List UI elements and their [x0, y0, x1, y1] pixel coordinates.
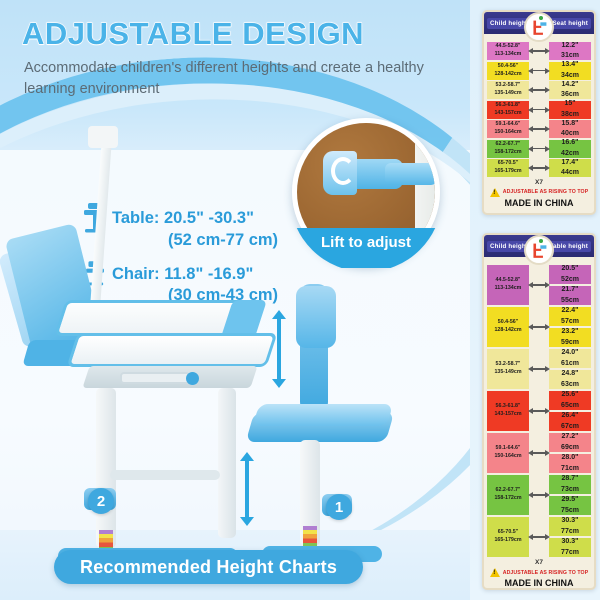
table-height-cm: 65cm	[561, 401, 579, 411]
desk-drawer	[120, 372, 190, 384]
table-height-inches: 23.2"	[562, 327, 579, 337]
chart-2-rows: 44.5-52.8"113-134cm20.5"52cm21.7"55cm50.…	[484, 257, 594, 590]
table-height-cm: 61cm	[561, 359, 579, 369]
warning-triangle-icon	[490, 188, 500, 197]
child-height-inches: 59.1-64.6"	[496, 445, 521, 453]
table-row: 59.1-64.6"150-164cm15.8"40cm	[484, 120, 594, 138]
bottom-banner-label: Recommended Height Charts	[80, 557, 337, 578]
child-height-inches: 65-70.5"	[498, 160, 518, 168]
cell-seat-height: 17.4"44cm	[549, 159, 591, 177]
cell-seat-height: 13.4"34cm	[549, 62, 591, 80]
chart-1-rows: 44.5-52.8"113-134cm12.2"31cm50.4-56"128-…	[484, 34, 594, 211]
cell-seat-height: 16.6"42cm	[549, 140, 591, 158]
cell-child-height: 44.5-52.8"113-134cm	[487, 42, 529, 60]
row-link-arrow-icon	[529, 81, 549, 99]
cell-table-height-group: 25.6"65cm26.4"67cm	[549, 391, 591, 431]
cell-table-height-lower: 24.8"63cm	[549, 370, 591, 389]
cell-seat-height: 15.8"40cm	[549, 120, 591, 138]
infographic-page: ADJUSTABLE DESIGN Accommodate children's…	[0, 0, 600, 600]
main-panel: ADJUSTABLE DESIGN Accommodate children's…	[0, 0, 470, 600]
table-height-cm: 67cm	[561, 422, 579, 432]
cell-child-height: 56.3-61.8"143-157cm	[487, 101, 529, 119]
row-link-arrow-icon	[529, 349, 549, 389]
child-height-cm: 150-164cm	[494, 129, 521, 137]
cell-child-height: 65-70.5"165-179cm	[487, 517, 529, 557]
cell-table-height-lower: 23.2"59cm	[549, 328, 591, 347]
cell-table-height-upper: 25.6"65cm	[549, 391, 591, 410]
bubble-knob-neck	[385, 163, 437, 185]
chart-2-header: Child height Table height	[484, 235, 594, 257]
chart-1-col-seat-height: Seat height	[549, 18, 591, 29]
child-height-inches: 56.3-61.8"	[496, 102, 521, 110]
spec-table-text: Table: 20.5" -30.3" (52 cm-77 cm)	[112, 196, 278, 252]
cell-table-height-upper: 24.0"61cm	[549, 349, 591, 368]
chart-2-warning: ADJUSTABLE AS RISING TO TOP	[484, 568, 594, 577]
chart-1-multiplier: X7	[484, 179, 594, 186]
cell-child-height: 59.1-64.6"150-164cm	[487, 433, 529, 473]
chart-1-header: Child height Seat height	[484, 12, 594, 34]
lift-adjust-label-wrap: Lift to adjust	[292, 228, 440, 268]
chart-2-multiplier: X7	[484, 559, 594, 566]
child-height-cm: 113-134cm	[495, 285, 522, 293]
table-row: 50.4-56"128-142cm22.4"57cm23.2"59cm	[484, 307, 594, 347]
row-link-arrow-icon	[529, 307, 549, 347]
seat-height-inches: 14.2"	[562, 80, 579, 90]
child-height-cm: 143-157cm	[494, 411, 521, 419]
table-row: 50.4-56"128-142cm13.4"34cm	[484, 62, 594, 80]
table-height-cm: 71cm	[561, 464, 579, 474]
child-height-inches: 44.5-52.8"	[496, 43, 521, 51]
cell-child-height: 62.2-67.7"158-172cm	[487, 140, 529, 158]
child-height-cm: 165-179cm	[494, 168, 521, 176]
lift-adjust-label: Lift to adjust	[292, 234, 440, 251]
child-height-inches: 44.5-52.8"	[496, 277, 521, 285]
child-height-inches: 62.2-67.7"	[496, 141, 521, 149]
table-row: 65-70.5"165-179cm17.4"44cm	[484, 159, 594, 177]
cell-table-height-upper: 27.2"69cm	[549, 433, 591, 452]
table-height-inches: 27.2"	[562, 432, 579, 442]
table-height-cm: 55cm	[561, 296, 579, 306]
row-link-arrow-icon	[529, 517, 549, 557]
table-height-inches: 28.0"	[562, 453, 579, 463]
table-height-cm: 69cm	[561, 443, 579, 453]
cell-table-height-lower: 26.4"67cm	[549, 412, 591, 431]
row-link-arrow-icon	[529, 101, 549, 119]
table-height-inches: 24.0"	[562, 348, 579, 358]
spec-row-table: Table: 20.5" -30.3" (52 cm-77 cm)	[78, 196, 278, 252]
child-height-inches: 50.4-56"	[498, 63, 518, 71]
cell-table-height-lower: 29.5"75cm	[549, 496, 591, 515]
table-height-cm: 77cm	[561, 527, 579, 537]
table-row: 44.5-52.8"113-134cm20.5"52cm21.7"55cm	[484, 265, 594, 305]
table-height-inches: 21.7"	[562, 285, 579, 295]
table-height-inches: 29.5"	[562, 495, 579, 505]
child-height-cm: 150-164cm	[494, 453, 521, 461]
seat-height-inches: 13.4"	[562, 60, 579, 70]
row-link-arrow-icon	[529, 140, 549, 158]
cell-table-height-upper: 28.7"73cm	[549, 475, 591, 494]
cell-child-height: 56.3-61.8"143-157cm	[487, 391, 529, 431]
table-height-cm: 77cm	[561, 548, 579, 558]
spec-block: Table: 20.5" -30.3" (52 cm-77 cm) Chair:…	[78, 196, 278, 313]
chair-height-arrow-icon	[240, 452, 254, 526]
chart-1-origin: MADE IN CHINA	[484, 198, 594, 211]
seat-height-inches: 16.6"	[562, 138, 579, 148]
table-row: 56.3-61.8"143-157cm25.6"65cm26.4"67cm	[484, 391, 594, 431]
child-height-cm: 128-142cm	[494, 71, 521, 79]
badge-desk-number: 2	[88, 488, 114, 514]
row-link-arrow-icon	[529, 120, 549, 138]
cell-child-height: 53.2-58.7"135-149cm	[487, 81, 529, 99]
child-height-inches: 56.3-61.8"	[496, 403, 521, 411]
table-row: 62.2-67.7"158-172cm16.6"42cm	[484, 140, 594, 158]
cell-child-height: 50.4-56"128-142cm	[487, 307, 529, 347]
cell-table-height-group: 24.0"61cm24.8"63cm	[549, 349, 591, 389]
child-height-cm: 143-157cm	[494, 110, 521, 118]
cell-table-height-upper: 22.4"57cm	[549, 307, 591, 326]
lamp-head	[88, 126, 118, 148]
child-height-cm: 158-172cm	[494, 149, 521, 157]
child-height-cm: 113-134cm	[495, 51, 522, 59]
table-height-chart-card: Child height Table height 44.5-52.8"113-…	[482, 233, 596, 590]
cell-seat-height: 15"38cm	[549, 101, 591, 119]
chart-1-warning-text: ADJUSTABLE AS RISING TO TOP	[503, 189, 589, 195]
bottom-banner: Recommended Height Charts	[54, 550, 363, 584]
spec-table-inches: Table: 20.5" -30.3"	[112, 209, 254, 227]
seat-height-chart-card: Child height Seat height 44.5-52.8"113-1…	[482, 10, 596, 215]
cell-table-height-lower: 30.3"77cm	[549, 538, 591, 557]
child-height-inches: 53.2-58.7"	[496, 82, 521, 90]
table-row: 62.2-67.7"158-172cm28.7"73cm29.5"75cm	[484, 475, 594, 515]
row-link-arrow-icon	[529, 475, 549, 515]
height-chart-column: Child height Seat height 44.5-52.8"113-1…	[470, 0, 600, 600]
table-row: 59.1-64.6"150-164cm27.2"69cm28.0"71cm	[484, 433, 594, 473]
child-height-inches: 50.4-56"	[498, 319, 518, 327]
chair-seat-cushion	[253, 404, 393, 426]
row-link-arrow-icon	[529, 265, 549, 305]
row-link-arrow-icon	[529, 391, 549, 431]
table-height-inches: 30.3"	[562, 516, 579, 526]
cell-table-height-group: 27.2"69cm28.0"71cm	[549, 433, 591, 473]
child-height-cm: 135-149cm	[494, 90, 521, 98]
desk-crossbar	[110, 470, 220, 480]
spec-chair-inches: Chair: 11.8" -16.9"	[112, 265, 253, 283]
cell-table-height-group: 22.4"57cm23.2"59cm	[549, 307, 591, 347]
badge-chair-number: 1	[326, 494, 352, 520]
table-row: 44.5-52.8"113-134cm12.2"31cm	[484, 42, 594, 60]
table-height-inches: 24.8"	[562, 369, 579, 379]
table-height-cm: 73cm	[561, 485, 579, 495]
seat-height-inches: 15.8"	[562, 119, 579, 129]
bubble-knob-hook	[331, 157, 355, 185]
child-height-cm: 135-149cm	[494, 369, 521, 377]
table-height-inches: 20.5"	[562, 264, 579, 274]
table-row: 53.2-58.7"135-149cm14.2"36cm	[484, 81, 594, 99]
seat-height-inches: 15"	[564, 99, 575, 109]
cell-child-height: 50.4-56"128-142cm	[487, 62, 529, 80]
chart-2-warning-text: ADJUSTABLE AS RISING TO TOP	[503, 570, 589, 576]
cell-child-height: 44.5-52.8"113-134cm	[487, 265, 529, 305]
cell-child-height: 59.1-64.6"150-164cm	[487, 120, 529, 138]
desk-leg-left	[96, 388, 116, 548]
child-height-cm: 158-172cm	[494, 495, 521, 503]
spec-table-cm: (52 cm-77 cm)	[112, 230, 278, 252]
cell-seat-height: 12.2"31cm	[549, 42, 591, 60]
cell-seat-height: 14.2"36cm	[549, 81, 591, 99]
cell-child-height: 62.2-67.7"158-172cm	[487, 475, 529, 515]
table-height-inches: 25.6"	[562, 390, 579, 400]
cell-table-height-group: 20.5"52cm21.7"55cm	[549, 265, 591, 305]
table-height-inches: 26.4"	[562, 411, 579, 421]
chart-2-origin: MADE IN CHINA	[484, 578, 594, 590]
seat-height-cm: 44cm	[561, 168, 579, 178]
page-subtitle: Accommodate children's different heights…	[24, 58, 424, 100]
cell-table-height-lower: 28.0"71cm	[549, 454, 591, 473]
drawer-knob-icon	[186, 372, 199, 385]
table-height-inches: 28.7"	[562, 474, 579, 484]
desk-height-arrow-icon	[272, 310, 286, 388]
seat-height-inches: 12.2"	[562, 41, 579, 51]
desk-leg-right	[218, 388, 236, 538]
table-height-cm: 63cm	[561, 380, 579, 390]
row-link-arrow-icon	[529, 42, 549, 60]
desk-top-front	[66, 333, 277, 367]
table-height-inches: 22.4"	[562, 306, 579, 316]
table-height-cm: 52cm	[561, 275, 579, 285]
cell-child-height: 53.2-58.7"135-149cm	[487, 349, 529, 389]
cell-table-height-upper: 30.3"77cm	[549, 517, 591, 536]
table-row: 56.3-61.8"143-157cm15"38cm	[484, 101, 594, 119]
row-link-arrow-icon	[529, 433, 549, 473]
table-height-cm: 57cm	[561, 317, 579, 327]
cell-table-height-upper: 20.5"52cm	[549, 265, 591, 284]
table-height-cm: 59cm	[561, 338, 579, 348]
table-height-inches: 30.3"	[562, 537, 579, 547]
seat-height-inches: 17.4"	[562, 158, 579, 168]
chart-1-warning: ADJUSTABLE AS RISING TO TOP	[484, 188, 594, 197]
child-height-inches: 65-70.5"	[498, 529, 518, 537]
page-title: ADJUSTABLE DESIGN	[22, 16, 364, 52]
child-height-cm: 165-179cm	[494, 537, 521, 545]
table-row: 53.2-58.7"135-149cm24.0"61cm24.8"63cm	[484, 349, 594, 389]
cell-table-height-group: 30.3"77cm30.3"77cm	[549, 517, 591, 557]
child-height-inches: 53.2-58.7"	[496, 361, 521, 369]
cell-child-height: 65-70.5"165-179cm	[487, 159, 529, 177]
row-link-arrow-icon	[529, 62, 549, 80]
row-link-arrow-icon	[529, 159, 549, 177]
table-row: 65-70.5"165-179cm30.3"77cm30.3"77cm	[484, 517, 594, 557]
child-height-inches: 59.1-64.6"	[496, 121, 521, 129]
chair-backrest-pad	[296, 286, 336, 348]
child-height-cm: 128-142cm	[494, 327, 521, 335]
table-height-cm: 75cm	[561, 506, 579, 516]
cell-table-height-group: 28.7"73cm29.5"75cm	[549, 475, 591, 515]
child-height-inches: 62.2-67.7"	[496, 487, 521, 495]
warning-triangle-icon	[490, 568, 500, 577]
cell-table-height-lower: 21.7"55cm	[549, 286, 591, 305]
